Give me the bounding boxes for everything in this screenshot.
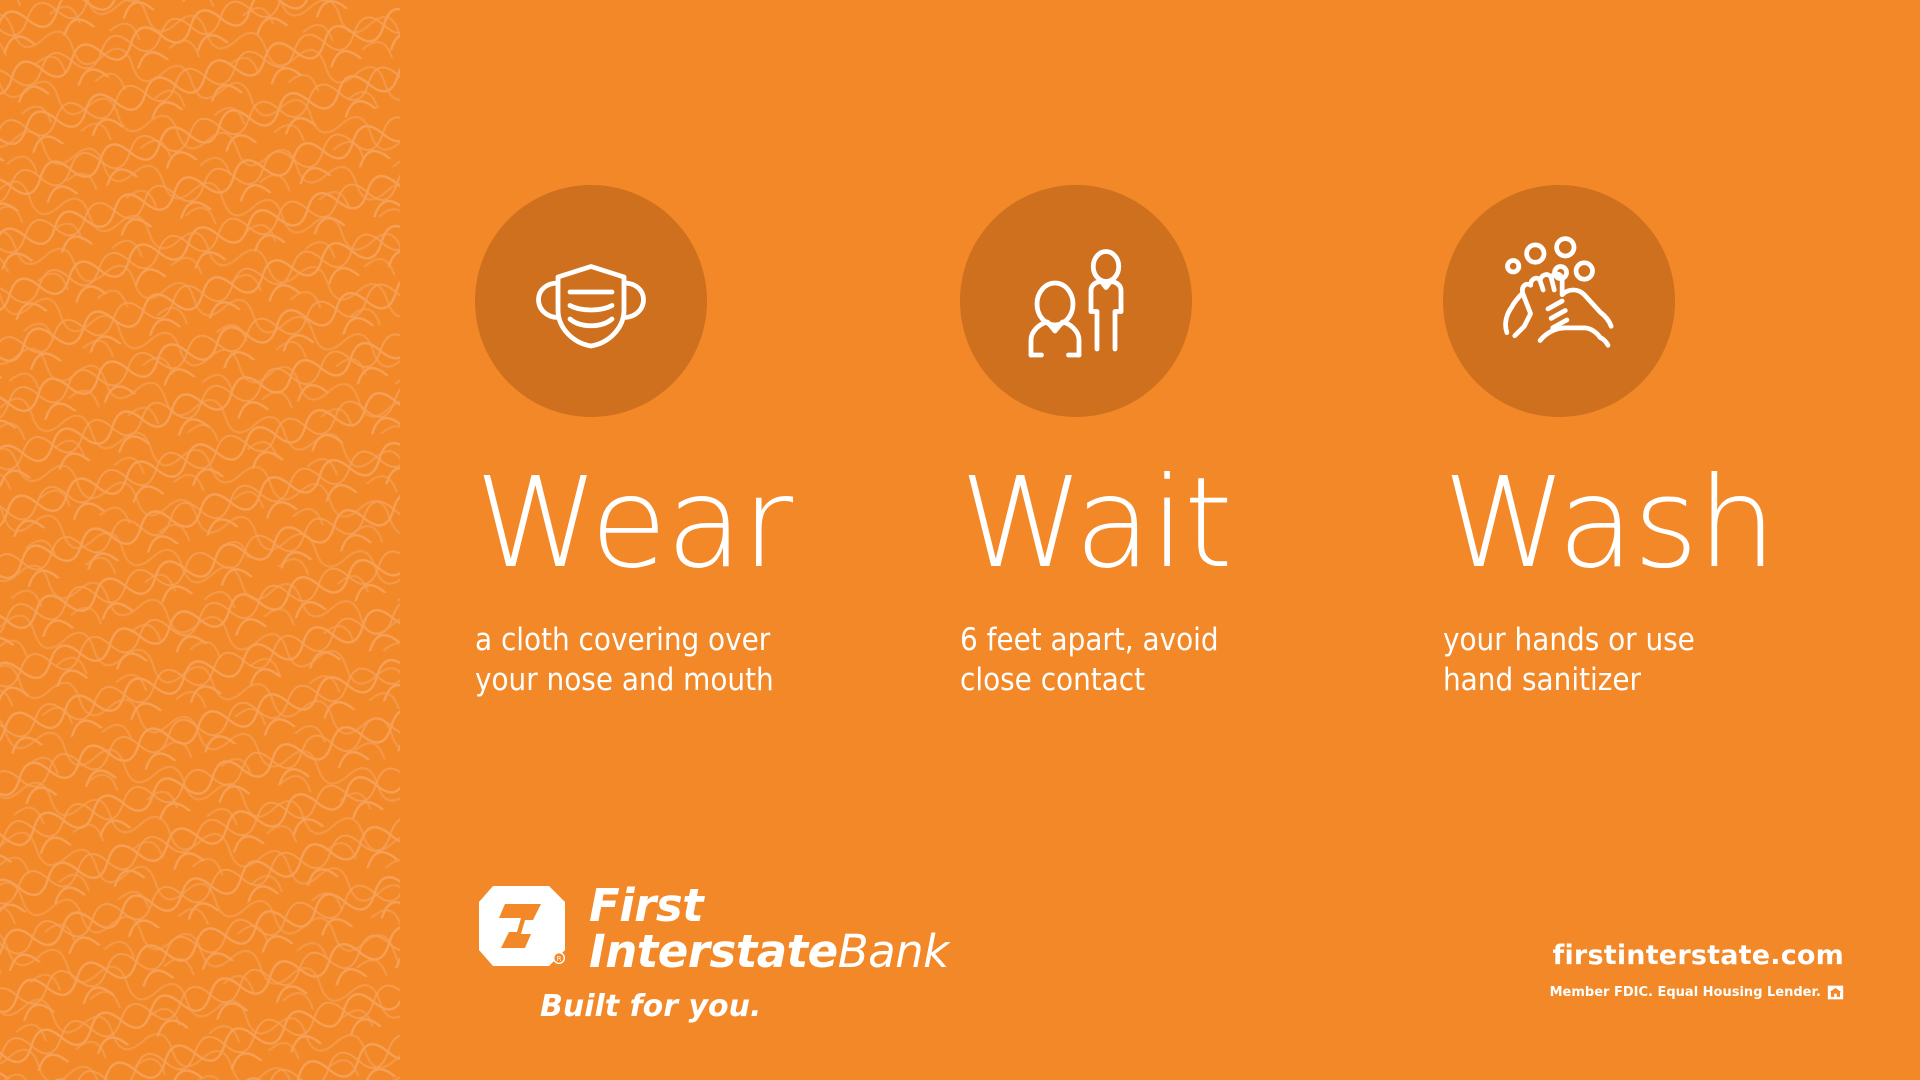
face-mask-icon — [516, 226, 666, 376]
brand-logo-lockup: R First InterstateBank Built for you. — [475, 880, 895, 1024]
subtext-wait: 6 feet apart, avoid close contact — [960, 620, 1390, 701]
subtext-line: your hands or use — [1443, 620, 1873, 660]
footer-right: firstinterstate.com Member FDIC. Equal H… — [1550, 940, 1844, 1000]
logo-word-interstate-bank: InterstateBank — [589, 929, 949, 975]
subtext-line: 6 feet apart, avoid — [960, 620, 1390, 660]
headline-wear: Wear — [475, 461, 905, 586]
icon-circle-wait — [960, 185, 1192, 417]
washing-hands-icon — [1480, 222, 1638, 380]
column-wash: Wash your hands or use hand sanitizer — [1443, 185, 1873, 701]
first-interstate-bank-logo-mark-icon: R — [475, 880, 573, 972]
headline-wait: Wait — [960, 461, 1390, 586]
website-url[interactable]: firstinterstate.com — [1550, 940, 1844, 971]
texture-panel — [0, 0, 400, 1080]
subtext-line: a cloth covering over — [475, 620, 905, 660]
equal-housing-lender-icon — [1827, 985, 1844, 1000]
disclosure-text: Member FDIC. Equal Housing Lender. — [1550, 985, 1821, 1000]
logo-word-interstate: Interstate — [589, 925, 838, 978]
subtext-line: close contact — [960, 660, 1390, 700]
icon-circle-wash — [1443, 185, 1675, 417]
social-distancing-people-icon — [1001, 226, 1151, 376]
subtext-wear: a cloth covering over your nose and mout… — [475, 620, 905, 701]
logo-row: R First InterstateBank — [475, 880, 895, 975]
headline-wash: Wash — [1443, 461, 1873, 586]
logo-wordmark: First InterstateBank — [589, 880, 949, 975]
icon-circle-wear — [475, 185, 707, 417]
logo-tagline: Built for you. — [540, 989, 895, 1024]
subtext-line: hand sanitizer — [1443, 660, 1873, 700]
column-wait: Wait 6 feet apart, avoid close contact — [960, 185, 1390, 701]
logo-word-bank: Bank — [838, 925, 949, 978]
legal-disclosure: Member FDIC. Equal Housing Lender. — [1550, 985, 1844, 1000]
logo-word-first: First — [589, 883, 949, 929]
poster-canvas: Wear a cloth covering over your nose and… — [0, 0, 1920, 1080]
column-wear: Wear a cloth covering over your nose and… — [475, 185, 905, 701]
subtext-wash: your hands or use hand sanitizer — [1443, 620, 1873, 701]
subtext-line: your nose and mouth — [475, 660, 905, 700]
svg-text:R: R — [557, 955, 562, 963]
